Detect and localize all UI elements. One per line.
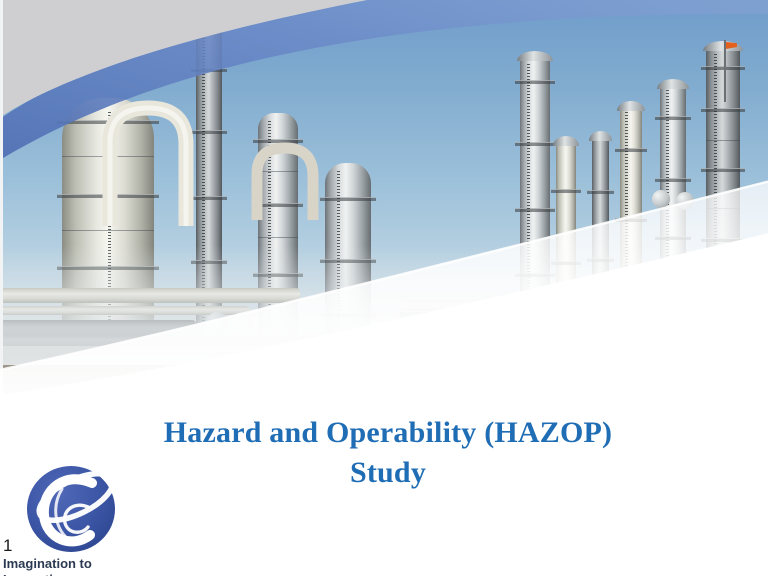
slide-title-line-2: Study bbox=[108, 453, 668, 493]
company-logo bbox=[18, 461, 124, 557]
slide-canvas: Hazard and Operability (HAZOP) Study 1 I… bbox=[0, 0, 768, 576]
sphere-tank-e bbox=[676, 192, 694, 210]
banner-left-edge bbox=[0, 0, 3, 400]
refinery-photo bbox=[0, 0, 768, 400]
slide-title: Hazard and Operability (HAZOP) Study bbox=[108, 413, 668, 492]
atmospheric-haze bbox=[0, 245, 768, 365]
sphere-tank-d bbox=[652, 190, 670, 208]
overhead-elbow-pipe bbox=[96, 96, 206, 226]
center-elbow-pipe bbox=[245, 140, 325, 220]
slide-title-line-1: Hazard and Operability (HAZOP) bbox=[108, 413, 668, 453]
company-tagline: Imagination to Innovation bbox=[3, 556, 153, 576]
page-number: 1 bbox=[3, 537, 12, 554]
mast-far-right bbox=[724, 40, 726, 102]
banner-image bbox=[0, 0, 768, 400]
